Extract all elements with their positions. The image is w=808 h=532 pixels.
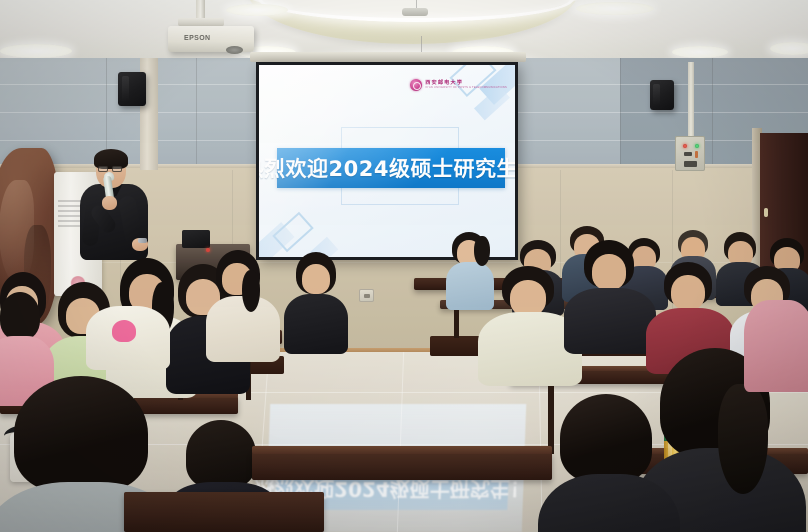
presenter-hand-on-mic (102, 196, 117, 210)
shirt-graphic (112, 320, 136, 342)
ceiling-projector: EPSON (168, 26, 254, 52)
wall-control-panel[interactable] (675, 136, 705, 171)
panel-display (684, 161, 697, 167)
lecture-hall-photo: EPSON 西安邮电大学 XI'AN UNIVERSITY OF POSTS &… (0, 0, 808, 532)
welcome-banner-text: 热烈欢迎2024级硕士研究生！ (259, 153, 515, 183)
wall-speaker-right (650, 80, 674, 110)
led-red-icon (683, 144, 687, 148)
screen-mounting-rail (250, 52, 526, 62)
projection-screen-frame: 西安邮电大学 XI'AN UNIVERSITY OF POSTS & TELEC… (256, 62, 518, 260)
recessed-light-5 (672, 46, 728, 58)
led-green-icon (695, 144, 699, 148)
desk-foreground-left (124, 492, 324, 532)
door-knob-icon[interactable] (764, 208, 768, 217)
wall-speaker-left (118, 72, 146, 106)
desk-foreground-center-top (252, 446, 552, 454)
recessed-light-2 (226, 4, 288, 16)
panel-slot-1 (684, 152, 692, 156)
ceiling-fixture-upper (402, 8, 428, 16)
projector-lens-icon (226, 46, 243, 54)
panel-slot-2 (695, 151, 698, 158)
desk-foreground-center (252, 452, 552, 480)
slide-university-logo: 西安邮电大学 XI'AN UNIVERSITY OF POSTS & TELEC… (410, 79, 507, 91)
university-name-en: XI'AN UNIVERSITY OF POSTS & TELECOMMUNIC… (425, 87, 507, 90)
recessed-light-7 (576, 2, 654, 15)
presenter-wristwatch (138, 238, 147, 243)
console-led-icon (206, 248, 210, 252)
desk-leg-5 (548, 384, 554, 454)
console-monitor (182, 230, 210, 248)
projector-mount-arm (178, 18, 224, 26)
wall-vseam-4 (712, 58, 713, 170)
projection-screen: 西安邮电大学 XI'AN UNIVERSITY OF POSTS & TELEC… (259, 65, 515, 257)
wall-power-outlet[interactable] (359, 289, 374, 302)
wall-vseam-3 (620, 58, 621, 170)
wall-conduit (688, 62, 694, 138)
university-emblem-icon (410, 79, 422, 91)
recessed-light-1 (0, 44, 72, 58)
recessed-light-6 (770, 42, 808, 55)
projector-brand-label: EPSON (184, 35, 211, 42)
welcome-banner: 热烈欢迎2024级硕士研究生！ (277, 148, 505, 188)
wall-vseam-2 (196, 58, 197, 170)
presenter-glasses-icon (98, 166, 124, 172)
